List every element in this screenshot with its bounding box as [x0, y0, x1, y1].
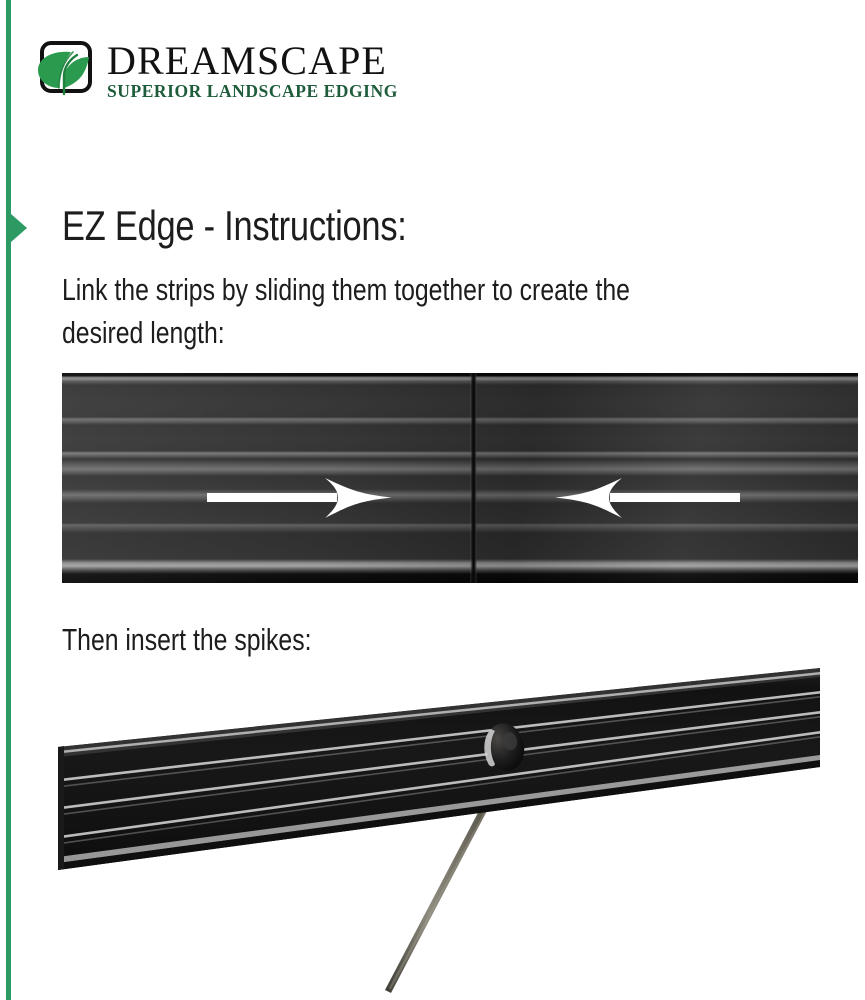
left-accent-rule — [6, 0, 11, 1000]
brand-tagline: SUPERIOR LANDSCAPE EDGING — [107, 82, 398, 100]
arrow-right-icon — [207, 474, 392, 522]
brand-logo: DREAMSCAPE SUPERIOR LANDSCAPE EDGING — [33, 38, 398, 101]
figure-strip-with-spike — [55, 655, 865, 1000]
edging-strip — [55, 655, 865, 1000]
brand-wordmark: DREAMSCAPE SUPERIOR LANDSCAPE EDGING — [107, 38, 398, 101]
instruction-sheet-page: DREAMSCAPE SUPERIOR LANDSCAPE EDGING EZ … — [0, 0, 865, 1000]
two-leaves-in-rounded-square-icon — [33, 38, 95, 100]
step-1-text: Link the strips by sliding them together… — [62, 268, 630, 354]
figure-1-alt: Two black aluminum edging strips butted … — [0, 0, 1, 1]
strip-seam — [470, 373, 477, 583]
page-title: EZ Edge - Instructions: — [62, 203, 407, 248]
figure-linked-strips — [62, 373, 858, 583]
right-triangle-marker-icon — [11, 214, 27, 242]
brand-name: DREAMSCAPE — [107, 41, 398, 80]
arrow-left-icon — [530, 474, 740, 522]
figure-2-alt: Black edging strip in perspective with a… — [0, 0, 1, 1]
